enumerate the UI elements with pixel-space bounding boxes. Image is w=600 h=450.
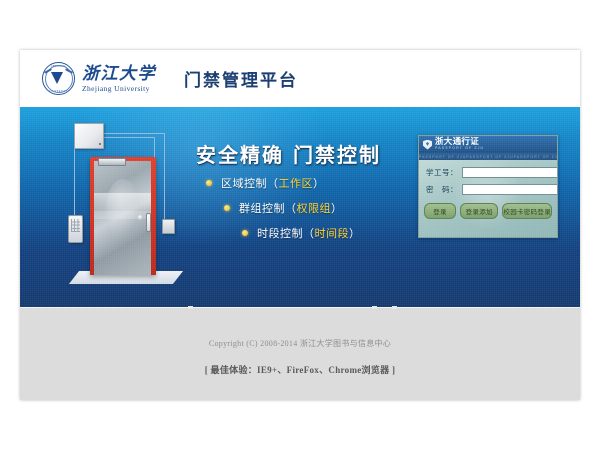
seal-bottom-text: UNIVERSITY xyxy=(42,90,75,93)
page-title: 门禁管理平台 xyxy=(184,66,298,91)
access-controller-box-icon xyxy=(74,123,104,149)
bullet-dot-icon xyxy=(242,230,248,236)
browser-support-text: [ 最佳体验：IE9+、FireFox、Chrome浏览器 ] xyxy=(20,363,580,376)
feature-label-time: 时段控制（ xyxy=(257,225,315,241)
login-add-button[interactable]: 登录添加 xyxy=(460,203,498,219)
bullet-dot-icon xyxy=(224,205,230,211)
feature-accent-group: 权限组 xyxy=(297,200,332,216)
username-label: 学工号： xyxy=(426,167,458,178)
feature-item-time: 时段控制（时间段） xyxy=(242,225,361,241)
site-container: ZHEJIANG UNIVERSITY 浙江大学 Zhejiang Univer… xyxy=(20,50,580,400)
door-handle-icon xyxy=(146,213,151,232)
strip-text: PASSPORT OF ZJU xyxy=(514,155,557,159)
site-header: ZHEJIANG UNIVERSITY 浙江大学 Zhejiang Univer… xyxy=(20,50,580,107)
field-row-username: 学工号： xyxy=(426,167,550,178)
login-form: 学工号： 密 码： xyxy=(419,160,557,195)
wire-reader-vertical xyxy=(164,133,165,219)
university-name: 浙江大学 Zhejiang University xyxy=(82,65,156,93)
feature-label-group: 群组控制（ xyxy=(239,200,297,216)
username-input[interactable] xyxy=(462,167,558,178)
feature-item-area: 区域控制（工作区） xyxy=(206,175,361,191)
shield-icon xyxy=(423,140,432,150)
site-footer: Copyright (C) 2008-2014 浙江大学图书与信息中心 [ 最佳… xyxy=(20,307,580,400)
door-closer-icon xyxy=(98,158,126,166)
feature-list: 区域控制（工作区） 群组控制（权限组） 时段控制（时间段） xyxy=(206,175,361,250)
bullet-dot-icon xyxy=(206,180,212,186)
wire-controller-to-reader xyxy=(102,133,164,134)
field-row-password: 密 码： xyxy=(426,184,550,195)
card-reader-icon xyxy=(162,219,175,234)
university-seal-icon: ZHEJIANG UNIVERSITY xyxy=(42,62,75,95)
password-label: 密 码： xyxy=(426,184,458,195)
feature-item-group: 群组控制（权限组） xyxy=(224,200,361,216)
login-panel-header: 浙大通行证 PASSPORT OF ZJU xyxy=(419,136,557,153)
feature-tail-group: ） xyxy=(331,200,343,216)
banner-headline: 安全精确 门禁控制 xyxy=(196,139,381,168)
feature-tail-time: ） xyxy=(349,225,361,241)
hero-banner: 安全精确 门禁控制 区域控制（工作区） 群组控制（权限组） 时段控制（时间段） … xyxy=(20,107,580,307)
door-frame xyxy=(90,157,156,275)
strip-text: PASSPORT OF ZJU xyxy=(419,155,466,159)
keypad-reader-icon xyxy=(68,215,83,243)
login-panel: 浙大通行证 PASSPORT OF ZJU PASSPORT OF ZJU PA… xyxy=(418,135,558,238)
login-panel-title-en: PASSPORT OF ZJU xyxy=(435,147,484,151)
copyright-text: Copyright (C) 2008-2014 浙江大学图书与信息中心 xyxy=(20,308,580,349)
university-name-en: Zhejiang University xyxy=(82,84,156,93)
feature-accent-time: 时间段 xyxy=(315,225,350,241)
login-panel-title-zh: 浙大通行证 xyxy=(435,138,484,147)
university-name-zh: 浙江大学 xyxy=(82,65,156,83)
university-logo[interactable]: ZHEJIANG UNIVERSITY 浙江大学 Zhejiang Univer… xyxy=(42,62,156,95)
campus-card-login-button[interactable]: 校园卡密码登录 xyxy=(502,203,552,219)
wire-controller-to-closer xyxy=(102,137,154,138)
password-input[interactable] xyxy=(462,184,558,195)
strip-text: PASSPORT OF ZJU xyxy=(466,155,513,159)
footer-notches xyxy=(20,306,580,309)
access-control-illustration xyxy=(48,119,188,299)
feature-accent-area: 工作区 xyxy=(279,175,314,191)
door-knob-icon xyxy=(138,215,143,220)
seal-top-text: ZHEJIANG xyxy=(42,65,75,68)
wire-controller-to-keypad xyxy=(74,147,75,215)
feature-tail-area: ） xyxy=(313,175,325,191)
passport-strip: PASSPORT OF ZJU PASSPORT OF ZJU PASSPORT… xyxy=(419,153,557,160)
login-actions: 登录 登录添加 校园卡密码登录 xyxy=(419,201,557,219)
feature-label-area: 区域控制（ xyxy=(221,175,279,191)
login-button[interactable]: 登录 xyxy=(424,203,456,219)
